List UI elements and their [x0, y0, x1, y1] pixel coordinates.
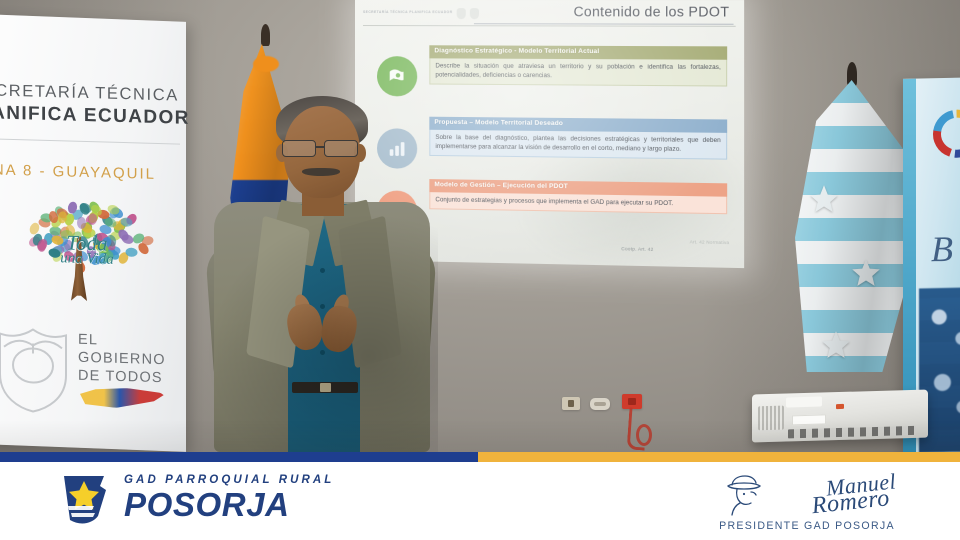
- banner-left-line1: SECRETARÍA TÉCNICA: [0, 81, 180, 106]
- shirt-button: [320, 304, 325, 309]
- rollup-banner-left: SECRETARÍA TÉCNICA PLANIFICA ECUADOR ZON…: [0, 14, 186, 452]
- signature-role: PRESIDENTE GAD POSORJA: [712, 520, 902, 532]
- signature-name: Manuel Romero: [825, 468, 898, 501]
- footer-brand: GAD PARROQUIAL RURAL POSORJA: [56, 470, 334, 526]
- banner-left-line2: PLANIFICA ECUADOR: [0, 102, 180, 130]
- guayas-flag-folds: [795, 80, 913, 372]
- banner-right-initial: B: [931, 228, 953, 270]
- presenter: [196, 92, 446, 452]
- presenter-belt: [292, 382, 358, 393]
- presenter-mustache: [302, 168, 340, 176]
- signature-last-name: Romero: [810, 485, 890, 520]
- slide-section-propuesta: Propuesta – Modelo Territorial Deseado S…: [429, 117, 727, 160]
- slide-reference-right: Art. 42 Normativa: [690, 239, 730, 245]
- shield-icon: [470, 8, 479, 19]
- projector-lens-cover: [786, 397, 822, 408]
- gov-line3: DE TODOS: [78, 367, 166, 388]
- slide-reference: Cootp. Art. 42: [621, 246, 653, 252]
- glasses-icon: [280, 140, 364, 157]
- banner-left-zone: ZONA 8 - GUAYAQUIL: [0, 161, 180, 184]
- screenshot-stage: SECRETARÍA TÉCNICA PLANIFICA ECUADOR Con…: [0, 0, 960, 540]
- projector-indicator-icon: [836, 404, 844, 409]
- toda-una-vida-logo: Toda una Vida: [11, 193, 161, 309]
- shirt-button: [320, 350, 325, 355]
- slide-section-diagnostico: Diagnóstico Estratégico - Modelo Territo…: [429, 45, 727, 86]
- footer-bar: GAD PARROQUIAL RURAL POSORJA Manuel Rome…: [0, 462, 960, 540]
- ecuador-ribbon-icon: [80, 387, 166, 409]
- footer-rule-blue: [0, 452, 478, 462]
- brand-title: POSORJA: [124, 488, 334, 521]
- gov-line2: GOBIERNO: [78, 349, 166, 370]
- portrait-line-art-icon: [720, 470, 778, 516]
- slide-title: Contenido de los PDOT: [574, 4, 730, 20]
- section-body: Conjunto de estrategias y procesos que i…: [429, 192, 727, 214]
- footer-rule-amber: [478, 452, 960, 462]
- gov-line1: EL: [78, 331, 166, 352]
- slide-header-rule: [363, 25, 736, 27]
- data-socket: [562, 397, 580, 410]
- power-socket: [590, 398, 610, 410]
- seal-icon: [457, 8, 466, 19]
- government-block: EL GOBIERNO DE TODOS: [0, 322, 180, 423]
- banner-left-divider: [0, 138, 180, 145]
- circular-ring-logo-icon: [929, 105, 960, 162]
- slide-section-gestion: Modelo de Gestión – Ejecución del PDOT C…: [429, 179, 727, 214]
- section-body: Sobre la base del diagnóstico, plantea l…: [429, 129, 727, 159]
- posorja-shield-logo-icon: [56, 470, 112, 526]
- flag-knot: [253, 56, 279, 72]
- shirt-button: [320, 268, 325, 273]
- brand-text: GAD PARROQUIAL RURAL POSORJA: [124, 475, 334, 521]
- ecuador-coat-of-arms-icon: [0, 324, 72, 414]
- territory-map-icon: [377, 56, 417, 96]
- program-name: Toda una Vida: [17, 229, 157, 270]
- government-slogan: EL GOBIERNO DE TODOS: [78, 331, 166, 388]
- slide-header-org: SECRETARÍA TÉCNICA PLANIFICA ECUADOR: [363, 10, 453, 15]
- footer-signature: Manuel Romero PRESIDENTE GAD POSORJA: [712, 472, 902, 532]
- section-body: Describe la situación que atraviesa un t…: [429, 58, 727, 86]
- guayas-flag: [795, 72, 913, 372]
- flag-pole-finial: [261, 24, 270, 46]
